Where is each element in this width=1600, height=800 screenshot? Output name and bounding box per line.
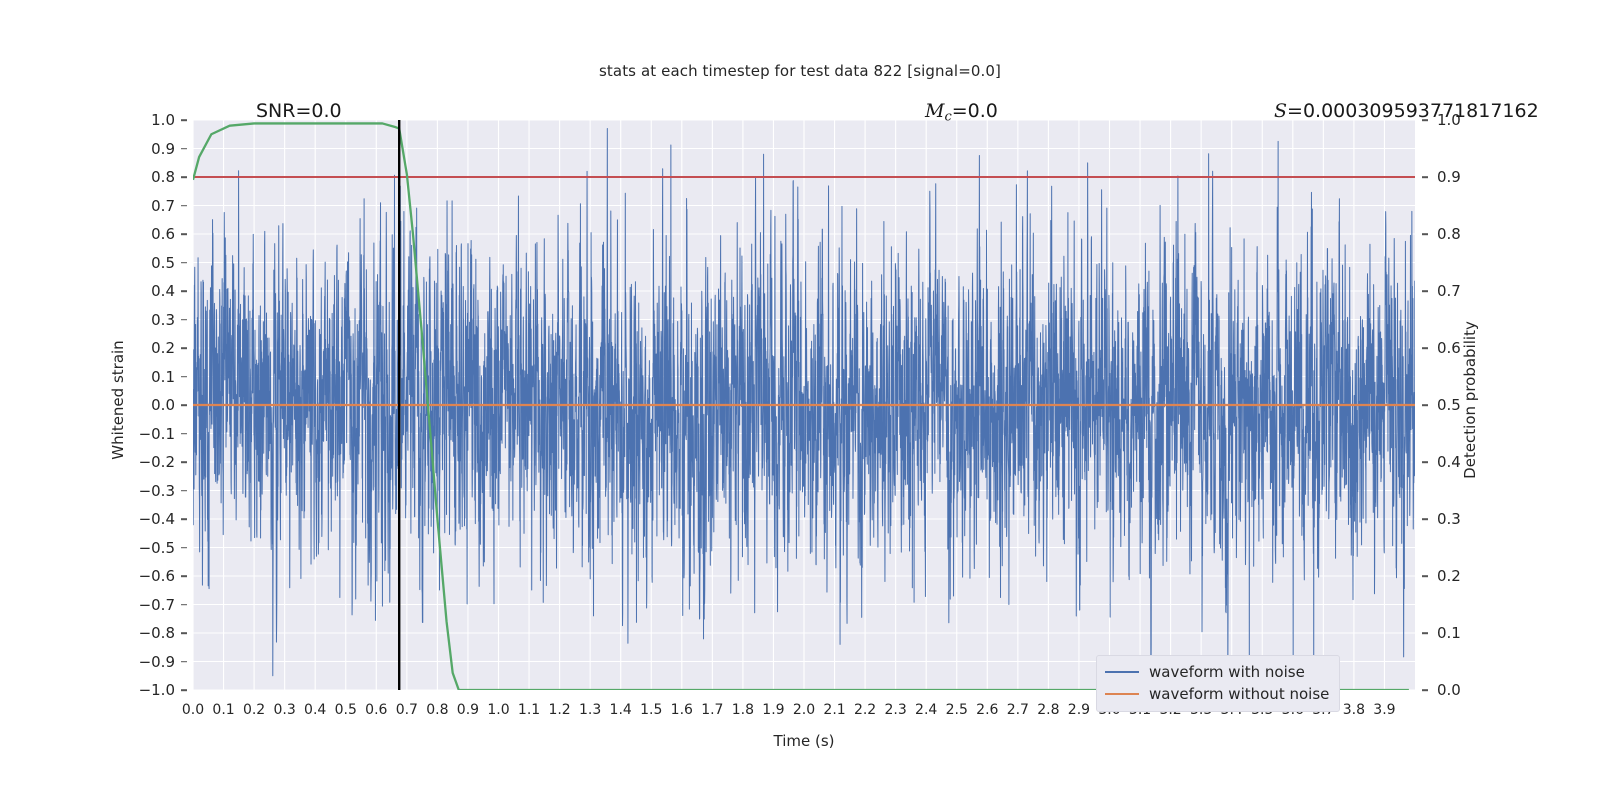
page-title: stats at each timestep for test data 822…: [0, 62, 1600, 80]
y-axis-left-tick-label: 1.0: [115, 111, 175, 129]
figure-canvas: stats at each timestep for test data 822…: [0, 0, 1600, 800]
chirp-mass-subscript: c: [944, 109, 951, 124]
y-axis-left-tick-label: 0.5: [115, 254, 175, 272]
statistic-symbol: S: [1274, 100, 1287, 122]
y-axis-left-tick-label: −0.6: [115, 567, 175, 585]
y-axis-left-tick-mark: [181, 262, 187, 264]
y-axis-left-tick-mark: [181, 575, 187, 577]
y-axis-left-tick-mark: [181, 290, 187, 292]
y-axis-right-tick-mark: [1422, 518, 1428, 520]
annotation-snr: SNR=0.0: [256, 100, 342, 122]
y-axis-right-tick-label: 0.8: [1437, 225, 1497, 243]
y-axis-left-tick-mark: [181, 376, 187, 378]
legend-label: waveform with noise: [1149, 663, 1305, 681]
y-axis-right-tick-label: 0.1: [1437, 624, 1497, 642]
y-axis-left-tick-label: 0.6: [115, 225, 175, 243]
y-axis-left-tick-label: −0.3: [115, 482, 175, 500]
y-axis-left-tick-label: 0.4: [115, 282, 175, 300]
y-axis-left-tick-label: 0.7: [115, 197, 175, 215]
y-axis-right-tick-label: 0.7: [1437, 282, 1497, 300]
y-axis-right-tick-mark: [1422, 176, 1428, 178]
legend-item[interactable]: waveform without noise: [1105, 683, 1329, 705]
y-axis-left-tick-mark: [181, 689, 187, 691]
y-axis-right-tick-mark: [1422, 575, 1428, 577]
y-axis-left-tick-label: −0.9: [115, 653, 175, 671]
y-axis-right-tick-label: 0.2: [1437, 567, 1497, 585]
y-axis-right-tick-mark: [1422, 689, 1428, 691]
statistic-value: =0.000309593771817162: [1287, 100, 1539, 122]
legend-color-swatch: [1105, 693, 1139, 695]
y-axis-right-tick-mark: [1422, 632, 1428, 634]
y-axis-left-tick-mark: [181, 347, 187, 349]
y-axis-left-label: Whitened strain: [109, 340, 127, 459]
y-axis-left-tick-label: −0.4: [115, 510, 175, 528]
chirp-mass-symbol: M: [925, 100, 944, 122]
y-axis-left-tick-label: −0.8: [115, 624, 175, 642]
y-axis-right-tick-mark: [1422, 290, 1428, 292]
y-axis-left-tick-mark: [181, 404, 187, 406]
y-axis-left-tick-label: 0.9: [115, 140, 175, 158]
y-axis-right-tick-label: 0.0: [1437, 681, 1497, 699]
annotation-chirp-mass: Mc=0.0: [925, 100, 998, 124]
x-axis-label: Time (s): [774, 732, 835, 750]
y-axis-left-tick-label: 0.3: [115, 311, 175, 329]
y-axis-left-tick-mark: [181, 461, 187, 463]
y-axis-left-tick-mark: [181, 518, 187, 520]
y-axis-right-tick-label: 0.3: [1437, 510, 1497, 528]
y-axis-left-tick-mark: [181, 176, 187, 178]
y-axis-left-tick-mark: [181, 490, 187, 492]
legend: waveform with noisewaveform without nois…: [1096, 655, 1340, 712]
y-axis-right-tick-label: 0.9: [1437, 168, 1497, 186]
y-axis-left-tick-label: −0.5: [115, 539, 175, 557]
annotation-statistic: S=0.000309593771817162: [1274, 100, 1539, 122]
legend-color-swatch: [1105, 671, 1139, 673]
y-axis-left-tick-mark: [181, 233, 187, 235]
y-axis-left-tick-mark: [181, 148, 187, 150]
y-axis-left-tick-mark: [181, 319, 187, 321]
y-axis-left-tick-mark: [181, 547, 187, 549]
x-axis-tick-label: 3.9: [1358, 702, 1410, 718]
y-axis-right-tick-mark: [1422, 233, 1428, 235]
plot-area: [193, 120, 1415, 690]
data-layer: [193, 120, 1415, 690]
y-axis-left-tick-mark: [181, 433, 187, 435]
y-axis-left-tick-mark: [181, 632, 187, 634]
y-axis-right-tick-mark: [1422, 404, 1428, 406]
y-axis-left-tick-mark: [181, 661, 187, 663]
y-axis-left-tick-mark: [181, 119, 187, 121]
legend-item[interactable]: waveform with noise: [1105, 661, 1329, 683]
legend-label: waveform without noise: [1149, 685, 1329, 703]
y-axis-right-tick-mark: [1422, 461, 1428, 463]
y-axis-left-tick-mark: [181, 205, 187, 207]
y-axis-right-tick-mark: [1422, 347, 1428, 349]
y-axis-left-tick-label: 0.8: [115, 168, 175, 186]
chirp-mass-value: =0.0: [952, 100, 998, 122]
y-axis-right-label: Detection probability: [1461, 321, 1479, 479]
y-axis-left-tick-mark: [181, 604, 187, 606]
y-axis-left-tick-label: −1.0: [115, 681, 175, 699]
y-axis-left-tick-label: −0.7: [115, 596, 175, 614]
